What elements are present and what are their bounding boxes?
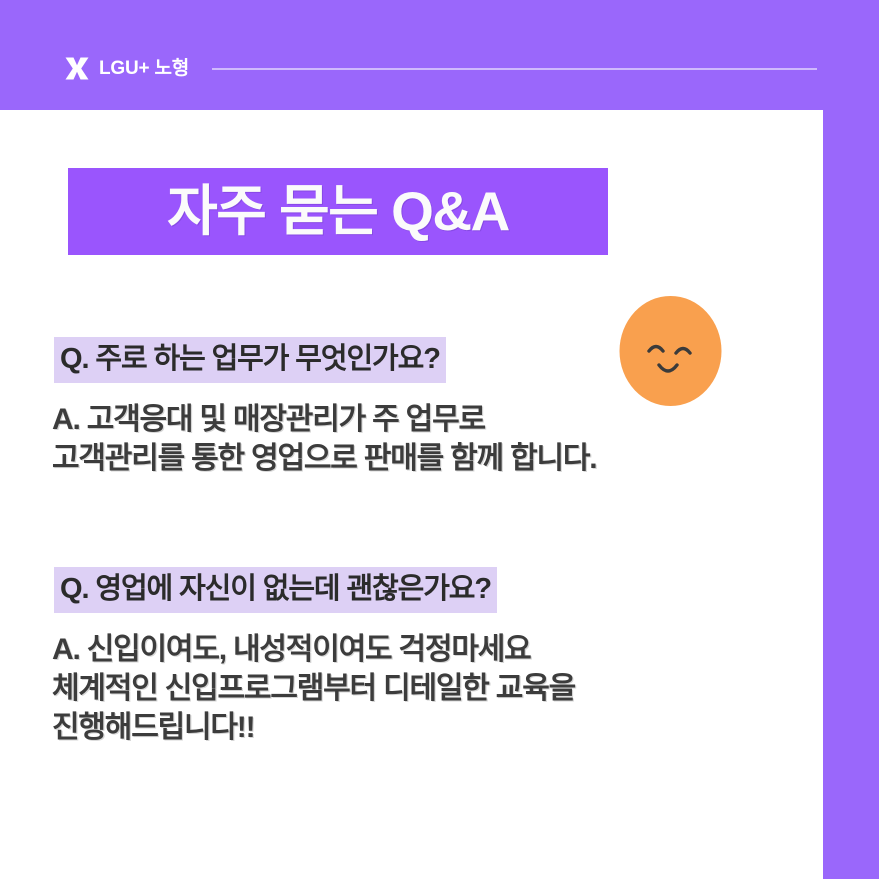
faq-question: Q. 영업에 자신이 없는데 괜찮은가요? — [54, 567, 497, 613]
faq-answer-line: 진행해드립니다!! — [52, 708, 575, 747]
faq-answer-line: 체계적인 신입프로그램부터 디테일한 교육을 — [52, 669, 575, 708]
page-title-banner: 자주 묻는 Q&A — [68, 168, 608, 255]
faq-item: Q. 영업에 자신이 없는데 괜찮은가요? A. 신입이여도, 내성적이여도 걱… — [54, 567, 575, 747]
smiling-face-icon — [618, 295, 723, 407]
faq-question: Q. 주로 하는 업무가 무엇인가요? — [54, 337, 446, 383]
faq-answer-line: A. 신입이여도, 내성적이여도 걱정마세요 — [52, 630, 575, 669]
faq-answer-line: A. 고객응대 및 매장관리가 주 업무로 — [52, 400, 596, 439]
faq-item: Q. 주로 하는 업무가 무엇인가요? A. 고객응대 및 매장관리가 주 업무… — [54, 337, 596, 478]
lgu-x-mark-icon — [64, 56, 90, 81]
faq-answer-line: 고객관리를 통한 영업으로 판매를 함께 합니다. — [52, 439, 596, 478]
header-divider-line — [212, 68, 817, 70]
header-bar: LGU+ 노형 — [0, 0, 879, 110]
brand-lockup: LGU+ 노형 — [64, 55, 189, 81]
faq-card: LGU+ 노형 자주 묻는 Q&A Q. 주로 하는 업무가 무엇인가요? A.… — [0, 0, 879, 879]
faq-answer: A. 고객응대 및 매장관리가 주 업무로 고객관리를 통한 영업으로 판매를 … — [52, 400, 596, 478]
brand-name-label: LGU+ 노형 — [99, 59, 189, 78]
content-panel: 자주 묻는 Q&A Q. 주로 하는 업무가 무엇인가요? A. 고객응대 및 … — [0, 110, 823, 879]
faq-answer: A. 신입이여도, 내성적이여도 걱정마세요 체계적인 신입프로그램부터 디테일… — [52, 630, 575, 747]
page-title: 자주 묻는 Q&A — [167, 184, 509, 239]
